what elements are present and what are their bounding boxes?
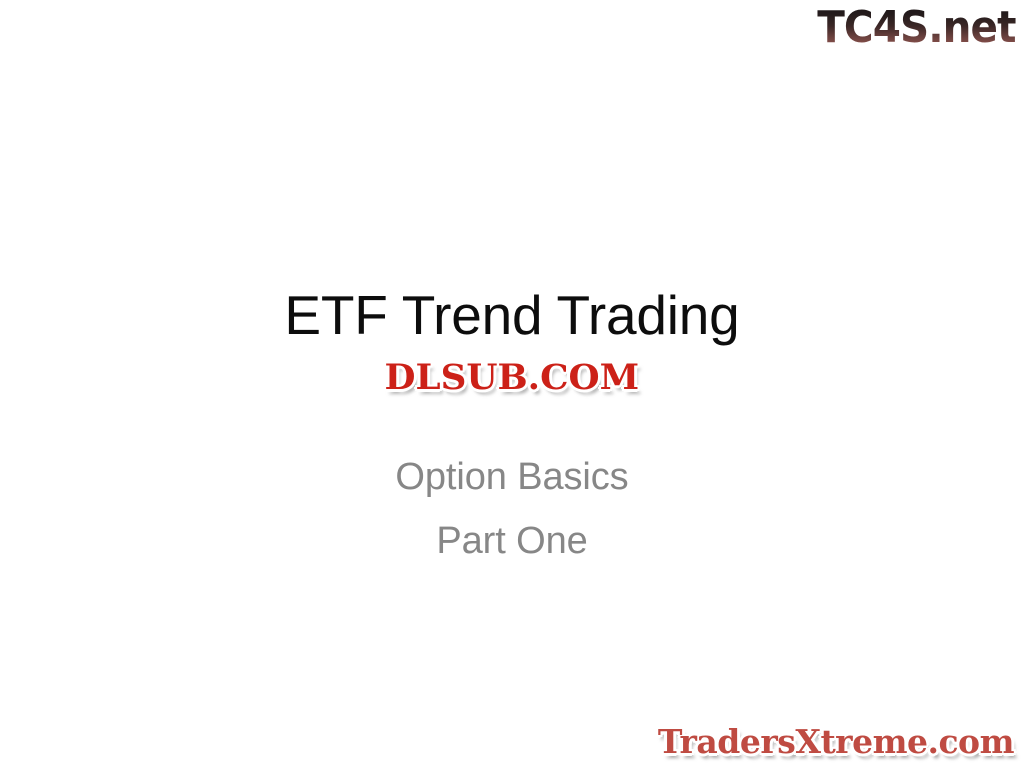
dlsub-watermark: DLSUB.COM — [0, 360, 1024, 395]
tc4s-watermark-text: TC4S.net — [818, 0, 1016, 54]
tradersxtreme-watermark-text: TradersXtreme.com — [658, 725, 1014, 758]
page-title: ETF Trend Trading — [0, 286, 1024, 344]
subtitle-line-1: Option Basics — [0, 446, 1024, 510]
dlsub-watermark-text: DLSUB.COM — [385, 360, 640, 395]
tradersxtreme-watermark: TradersXtreme.com — [658, 725, 1014, 758]
title-block: ETF Trend Trading — [0, 286, 1024, 344]
subtitle-line-2: Part One — [0, 510, 1024, 574]
subtitle-block: Option Basics Part One — [0, 446, 1024, 574]
tc4s-watermark: TC4S.net — [800, 0, 1016, 54]
presentation-slide: TC4S.net ETF Trend Trading DLSUB.COM Opt… — [0, 0, 1024, 768]
